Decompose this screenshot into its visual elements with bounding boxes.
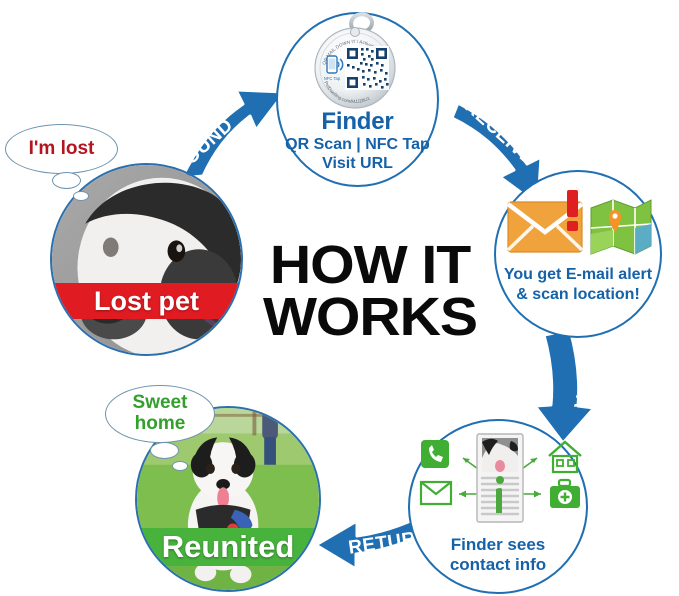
finder-subtitle-2: Visit URL [276, 155, 439, 173]
medical-kit-icon [550, 480, 580, 508]
arrow-receive-label: RECEIVE [460, 96, 539, 170]
pet-tag-icon: QR MAIL DOWN IT / Activation OTY PetDwel… [300, 12, 410, 112]
contact-info-line-1: Finder sees [408, 535, 588, 555]
thought-dot-large [52, 172, 81, 189]
email-alert-line-2: & scan location! [494, 286, 662, 304]
house-icon [549, 442, 581, 472]
envelope-alert-icon [508, 190, 582, 252]
title-line-1: HOW IT [248, 240, 492, 292]
title-line-2: WORKS [248, 292, 492, 344]
reunited-thought-bubble: Sweet home [105, 385, 215, 443]
phone-icon [421, 440, 449, 468]
nfc-tap-label: NFC Tap [324, 76, 341, 81]
finder-title: Finder [276, 108, 439, 136]
arrow-view: VIEW [535, 330, 602, 443]
envelope-icon [421, 482, 451, 504]
thought-dot-small-2 [172, 461, 188, 471]
email-alert-line-1: You get E-mail alert [486, 266, 670, 284]
arrow-found: FOUND [171, 90, 285, 178]
page-title: HOW IT WORKS [248, 240, 492, 344]
thought-dot-large-2 [150, 442, 179, 459]
lost-pet-bubble-text: I'm lost [29, 139, 95, 160]
lost-pet-thought-bubble: I'm lost [5, 124, 118, 174]
qr-code-icon [345, 46, 389, 90]
reunited-banner: Reunited [137, 528, 319, 566]
lost-pet-banner: Lost pet [52, 283, 241, 319]
infographic-canvas: FOUND RECEIVE VIEW RETURN HOW IT WORKS [0, 0, 679, 596]
finder-subtitle-1: QR Scan | NFC Tap [270, 136, 445, 154]
map-pin-icon [591, 200, 651, 254]
contact-icons-group [415, 432, 585, 532]
thought-dot-small [73, 191, 89, 201]
contact-info-line-2: contact info [408, 555, 588, 575]
alert-icons-group [505, 188, 651, 258]
reunited-bubble-line-2: home [135, 414, 186, 435]
reunited-bubble-line-1: Sweet [133, 393, 188, 414]
info-document-icon [477, 434, 523, 522]
